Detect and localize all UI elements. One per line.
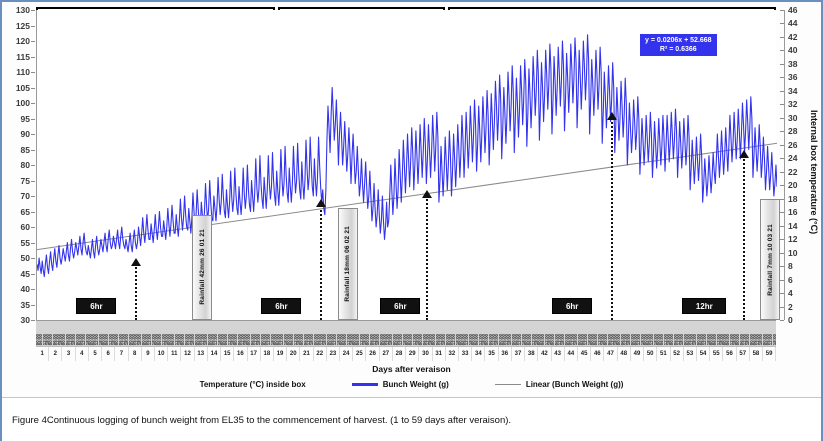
- x-axis-day-label: 48: [618, 347, 631, 361]
- x-axis-day-label: 23: [327, 347, 340, 361]
- annotation-arrow-line: [611, 118, 613, 320]
- y-axis-left-tick: 45: [4, 270, 30, 278]
- x-axis-day-label: 9: [142, 347, 155, 361]
- y-axis-left-tick: 35: [4, 301, 30, 309]
- y-axis-left-tickmark: [31, 196, 35, 197]
- y-axis-left-tick: 130: [4, 6, 30, 14]
- y-axis-left-tickmark: [31, 150, 35, 151]
- rainfall-bar-label: Rainfall 18mm 06 02 21: [344, 226, 351, 302]
- x-axis-day-label: 31: [433, 347, 446, 361]
- x-axis-day-label: 24: [340, 347, 353, 361]
- y-axis-left-tick: 55: [4, 239, 30, 247]
- y-axis-right-tick: 12: [788, 235, 808, 243]
- chart-legend: Temperature (°C) inside boxBunch Weight …: [2, 380, 821, 389]
- x-axis-day-label: 30: [419, 347, 432, 361]
- x-axis-day-label: 50: [644, 347, 657, 361]
- x-axis-day-label: 29: [406, 347, 419, 361]
- y-axis-left-tick: 125: [4, 22, 30, 30]
- annotation-arrow-head-icon: [316, 199, 326, 207]
- y-axis-left-tick: 120: [4, 37, 30, 45]
- duration-badge-label: 6hr: [275, 302, 287, 311]
- x-axis-day-label: 10: [155, 347, 168, 361]
- y-axis-left-tickmark: [31, 10, 35, 11]
- y-axis-left-tickmark: [31, 26, 35, 27]
- x-axis-title: Days after veraison: [2, 364, 821, 374]
- y-axis-left-tick: 80: [4, 161, 30, 169]
- x-axis-day-label: 15: [221, 347, 234, 361]
- x-axis-day-label: 4: [76, 347, 89, 361]
- x-axis-day-label: 47: [604, 347, 617, 361]
- y-axis-left-tick: 60: [4, 223, 30, 231]
- duration-badge: 12hr: [682, 298, 726, 314]
- y-axis-left-tick: 115: [4, 53, 30, 61]
- x-axis-day-label: 45: [578, 347, 591, 361]
- x-axis-day-label: 51: [657, 347, 670, 361]
- x-axis-day-label: 44: [565, 347, 578, 361]
- y-axis-left-tick: 30: [4, 316, 30, 324]
- x-axis-day-label: 14: [208, 347, 221, 361]
- y-axis-left-tickmark: [31, 88, 35, 89]
- y-axis-left-tick: 105: [4, 84, 30, 92]
- y-axis-left-tick: 100: [4, 99, 30, 107]
- y-axis-left-tick: 90: [4, 130, 30, 138]
- legend-swatch-trendline: [495, 384, 521, 385]
- x-axis-day-label: 57: [737, 347, 750, 361]
- y-axis-right-tick: 38: [788, 60, 808, 68]
- x-axis-day-label: 59: [763, 347, 776, 361]
- y-axis-right-tick: 26: [788, 141, 808, 149]
- y-axis-right-tick: 4: [788, 289, 808, 297]
- y-axis-right-tick: 28: [788, 127, 808, 135]
- rainfall-bar: Rainfall 42mm 26 01 21: [192, 215, 212, 320]
- duration-badge: 6hr: [552, 298, 592, 314]
- x-axis-day-label: 3: [62, 347, 75, 361]
- trendline-equation-box: y = 0.0206x + 52.668 R² = 0.6366: [640, 34, 717, 56]
- duration-badge: 6hr: [261, 298, 301, 314]
- y-axis-left-tick: 110: [4, 68, 30, 76]
- duration-badge-label: 6hr: [394, 302, 406, 311]
- annotation-arrow-line: [320, 205, 322, 320]
- y-axis-left-tickmark: [31, 212, 35, 213]
- x-axis-day-label: 53: [684, 347, 697, 361]
- x-axis-day-label: 32: [446, 347, 459, 361]
- y-axis-left-tick: 40: [4, 285, 30, 293]
- figure-page: 1301251201151101051009590858075706560555…: [0, 0, 823, 441]
- y-axis-right-tick: 30: [788, 114, 808, 122]
- legend-item-label: Linear (Bunch Weight (g)): [526, 380, 624, 389]
- x-axis-day-label: 13: [195, 347, 208, 361]
- annotation-arrow-head-icon: [422, 190, 432, 198]
- x-axis-day-label: 43: [552, 347, 565, 361]
- y-axis-left-tickmark: [31, 134, 35, 135]
- chart-svg: [37, 10, 777, 320]
- x-axis-day-label: 35: [485, 347, 498, 361]
- y-axis-left-tickmark: [31, 57, 35, 58]
- plot-area: Rainfall 42mm 26 01 21Rainfall 18mm 06 0…: [36, 10, 776, 320]
- x-axis-day-label: 33: [459, 347, 472, 361]
- y-axis-left-tickmark: [31, 227, 35, 228]
- x-axis-day-label: 7: [115, 347, 128, 361]
- y-axis-right-tick: 14: [788, 222, 808, 230]
- x-axis-day-label: 8: [129, 347, 142, 361]
- x-axis-day-label: 58: [750, 347, 763, 361]
- rainfall-bar-label: Rainfall 7mm 10 03 21: [767, 224, 774, 296]
- x-axis-day-label: 38: [525, 347, 538, 361]
- y-axis-left-tickmark: [31, 320, 35, 321]
- y-axis-right-tick: 24: [788, 154, 808, 162]
- legend-item: Temperature (°C) inside box: [200, 380, 306, 389]
- duration-badge: 6hr: [380, 298, 420, 314]
- x-axis-day-label: 34: [472, 347, 485, 361]
- y-axis-left-tick: 75: [4, 177, 30, 185]
- x-axis-day-label: 46: [591, 347, 604, 361]
- duration-badge: 6hr: [76, 298, 116, 314]
- y-axis-right-tick: 0: [788, 316, 808, 324]
- x-axis-day-label: 27: [380, 347, 393, 361]
- x-axis-day-numbers: 1234567891011121314151617181920212223242…: [36, 346, 776, 361]
- legend-item: Bunch Weight (g): [352, 380, 449, 389]
- duration-badge-label: 6hr: [566, 302, 578, 311]
- y-axis-right-tick: 44: [788, 19, 808, 27]
- x-axis-day-label: 25: [353, 347, 366, 361]
- x-axis-day-label: 5: [89, 347, 102, 361]
- annotation-arrow-line: [135, 264, 137, 320]
- y-axis-right-tick: 18: [788, 195, 808, 203]
- legend-swatch-bunch-weight: [352, 383, 378, 386]
- figure-caption: Figure 4 Continuous logging of bunch wei…: [2, 400, 821, 441]
- y-axis-left-tickmark: [31, 103, 35, 104]
- x-axis-day-label: 17: [248, 347, 261, 361]
- x-axis-day-label: 56: [723, 347, 736, 361]
- y-axis-left-tick: 95: [4, 115, 30, 123]
- x-axis-day-label: 36: [499, 347, 512, 361]
- x-axis-day-label: 6: [102, 347, 115, 361]
- legend-item-label: Bunch Weight (g): [383, 380, 449, 389]
- x-axis-day-label: 11: [168, 347, 181, 361]
- y-axis-right-tick: 22: [788, 168, 808, 176]
- y-axis-right-tick: 32: [788, 100, 808, 108]
- y-axis-right-tick: 16: [788, 208, 808, 216]
- y-axis-left-tick: 65: [4, 208, 30, 216]
- rainfall-bar: Rainfall 18mm 06 02 21: [338, 208, 358, 320]
- y-axis-right-tick: 46: [788, 6, 808, 14]
- x-axis-timestamp-strip: 00:0006:0012:0018:0000:0006:0012:0018:00…: [36, 320, 776, 346]
- y-axis-right-title: Internal box temperature (°C): [809, 110, 819, 234]
- annotation-arrow-line: [743, 156, 745, 321]
- y-axis-right-tick: 34: [788, 87, 808, 95]
- x-axis-day-label: 1: [36, 347, 49, 361]
- x-axis-day-label: 18: [261, 347, 274, 361]
- x-axis-day-label: 2: [49, 347, 62, 361]
- y-axis-right-tick: 2: [788, 303, 808, 311]
- y-axis-left-tickmark: [31, 274, 35, 275]
- x-axis-day-label: 52: [671, 347, 684, 361]
- annotation-arrow-line: [426, 196, 428, 320]
- y-axis-left-tickmark: [31, 119, 35, 120]
- y-axis-left-tickmark: [31, 165, 35, 166]
- x-axis-day-label: 28: [393, 347, 406, 361]
- annotation-arrow-head-icon: [131, 258, 141, 266]
- y-axis-right-tick: 42: [788, 33, 808, 41]
- y-axis-right-tick: 8: [788, 262, 808, 270]
- x-axis-day-label: 12: [181, 347, 194, 361]
- figure-frame: 1301251201151101051009590858075706560555…: [2, 2, 821, 398]
- y-axis-left-tick: 50: [4, 254, 30, 262]
- y-axis-right-tick: 6: [788, 276, 808, 284]
- x-axis-day-label: 22: [314, 347, 327, 361]
- rainfall-bar: Rainfall 7mm 10 03 21: [760, 199, 780, 320]
- y-axis-left-tickmark: [31, 305, 35, 306]
- y-axis-left-tickmark: [31, 41, 35, 42]
- y-axis-right-tick: 36: [788, 73, 808, 81]
- x-axis-day-label: 16: [234, 347, 247, 361]
- y-axis-right-line: [784, 10, 785, 320]
- legend-item: Linear (Bunch Weight (g)): [495, 380, 624, 389]
- x-axis-day-label: 21: [300, 347, 313, 361]
- y-axis-right-tick: 20: [788, 181, 808, 189]
- x-axis-timestamp: 18:00: [773, 334, 776, 345]
- legend-item-label: Temperature (°C) inside box: [200, 380, 306, 389]
- y-axis-left-tickmark: [31, 258, 35, 259]
- rainfall-bar-label: Rainfall 42mm 26 01 21: [199, 229, 206, 305]
- y-axis-left-tickmark: [31, 181, 35, 182]
- x-axis-day-label: 42: [538, 347, 551, 361]
- caption-label: Figure 4: [12, 415, 47, 426]
- y-axis-left-tickmark: [31, 289, 35, 290]
- x-axis-day-label: 55: [710, 347, 723, 361]
- y-axis-left-tick: 70: [4, 192, 30, 200]
- caption-text: Continuous logging of bunch weight from …: [47, 415, 511, 426]
- x-axis-day-label: 26: [366, 347, 379, 361]
- duration-badge-label: 12hr: [696, 302, 713, 311]
- duration-badge-label: 6hr: [90, 302, 102, 311]
- y-axis-left-tick: 85: [4, 146, 30, 154]
- y-axis-left-tickmark: [31, 72, 35, 73]
- x-axis-day-label: 19: [274, 347, 287, 361]
- y-axis-right-tickmark: [780, 320, 784, 321]
- x-axis-day-label: 20: [287, 347, 300, 361]
- x-axis-day-label: 54: [697, 347, 710, 361]
- trendline-equation: y = 0.0206x + 52.668: [645, 36, 712, 45]
- y-axis-right-tick: 40: [788, 46, 808, 54]
- annotation-arrow-head-icon: [739, 150, 749, 158]
- x-axis-day-label: 49: [631, 347, 644, 361]
- y-axis-right-tick: 10: [788, 249, 808, 257]
- annotation-arrow-head-icon: [607, 112, 617, 120]
- y-axis-left-tickmark: [31, 243, 35, 244]
- bunch-weight-series: [37, 35, 777, 277]
- trendline-r-squared: R² = 0.6366: [645, 45, 712, 54]
- x-axis-day-label: 37: [512, 347, 525, 361]
